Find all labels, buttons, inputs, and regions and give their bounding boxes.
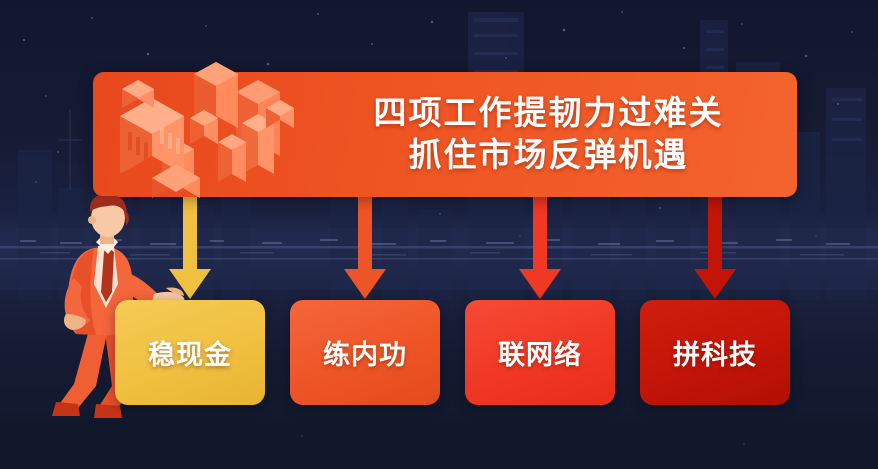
- arrow-to-card-4: [692, 197, 738, 303]
- arrow-to-card-2: [342, 197, 388, 303]
- card-lian-nei-gong[interactable]: 练内功: [290, 300, 440, 405]
- card-lian-wang-luo[interactable]: 联网络: [465, 300, 615, 405]
- card-wen-xian-jin[interactable]: 稳现金: [115, 300, 265, 405]
- arrow-to-card-3: [517, 197, 563, 303]
- banner-title-line-1: 四项工作提韧力过难关: [374, 95, 724, 132]
- card-pin-ke-ji[interactable]: 拼科技: [640, 300, 790, 405]
- card-label: 练内功: [323, 333, 407, 372]
- card-label: 联网络: [498, 333, 582, 372]
- arrow-to-card-1: [167, 197, 213, 303]
- banner-title: 四项工作提韧力过难关 抓住市场反弹机遇: [300, 72, 797, 197]
- infographic-poster: 四项工作提韧力过难关 抓住市场反弹机遇: [0, 0, 878, 469]
- card-label: 拼科技: [673, 333, 757, 372]
- card-label: 稳现金: [148, 333, 232, 372]
- banner-title-line-2: 抓住市场反弹机遇: [409, 137, 689, 174]
- water-reflection-band: [0, 228, 878, 290]
